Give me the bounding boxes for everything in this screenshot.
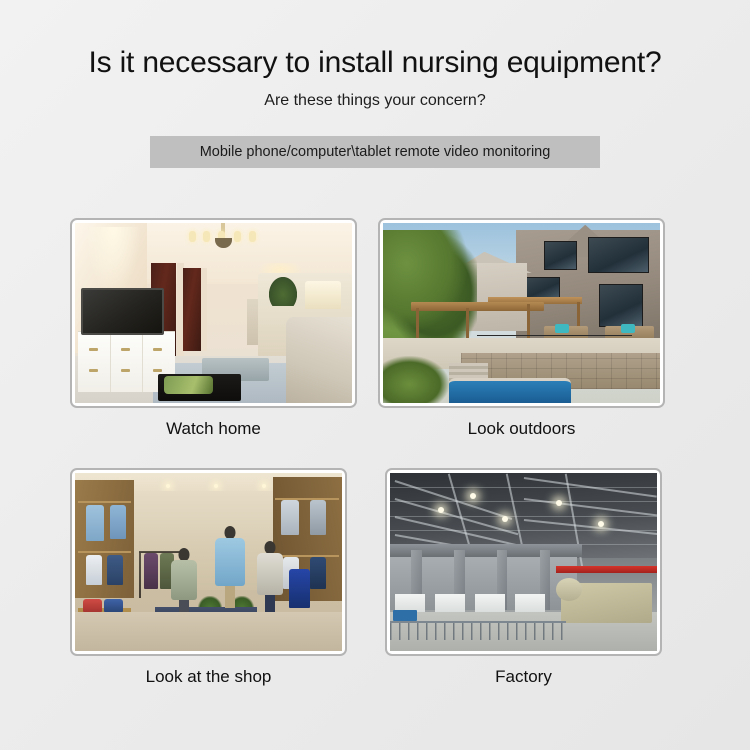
swimming-pool-icon	[449, 378, 571, 403]
feature-banner-text: Mobile phone/computer\tablet remote vide…	[200, 144, 551, 160]
image-caption: Watch home	[70, 419, 357, 439]
promo-page: Is it necessary to install nursing equip…	[0, 0, 750, 750]
image-gallery: Watch home	[0, 218, 750, 718]
overhead-crane-icon	[556, 566, 657, 573]
clothing-store-photo	[75, 473, 342, 651]
living-room-photo	[75, 223, 352, 403]
gallery-row: Watch home	[0, 218, 750, 468]
image-card[interactable]	[378, 218, 665, 408]
image-caption: Factory	[385, 667, 662, 687]
gallery-cell-watch-home[interactable]: Watch home	[70, 218, 357, 439]
factory-photo	[390, 473, 657, 651]
image-card[interactable]	[385, 468, 662, 656]
page-title: Is it necessary to install nursing equip…	[0, 46, 750, 80]
feature-banner: Mobile phone/computer\tablet remote vide…	[150, 136, 600, 168]
image-card[interactable]	[70, 468, 347, 656]
chandelier-icon	[186, 223, 264, 259]
gallery-cell-look-outdoors[interactable]: Look outdoors	[378, 218, 665, 439]
gallery-row: Look at the shop	[0, 468, 750, 718]
image-caption: Look at the shop	[70, 667, 347, 687]
outdoor-house-photo	[383, 223, 660, 403]
gallery-cell-look-at-the-shop[interactable]: Look at the shop	[70, 468, 347, 687]
television-icon	[81, 288, 164, 335]
image-caption: Look outdoors	[378, 419, 665, 439]
gallery-cell-factory[interactable]: Factory	[385, 468, 662, 687]
image-card[interactable]	[70, 218, 357, 408]
safety-railing	[390, 621, 566, 641]
page-subtitle: Are these things your concern?	[0, 92, 750, 110]
